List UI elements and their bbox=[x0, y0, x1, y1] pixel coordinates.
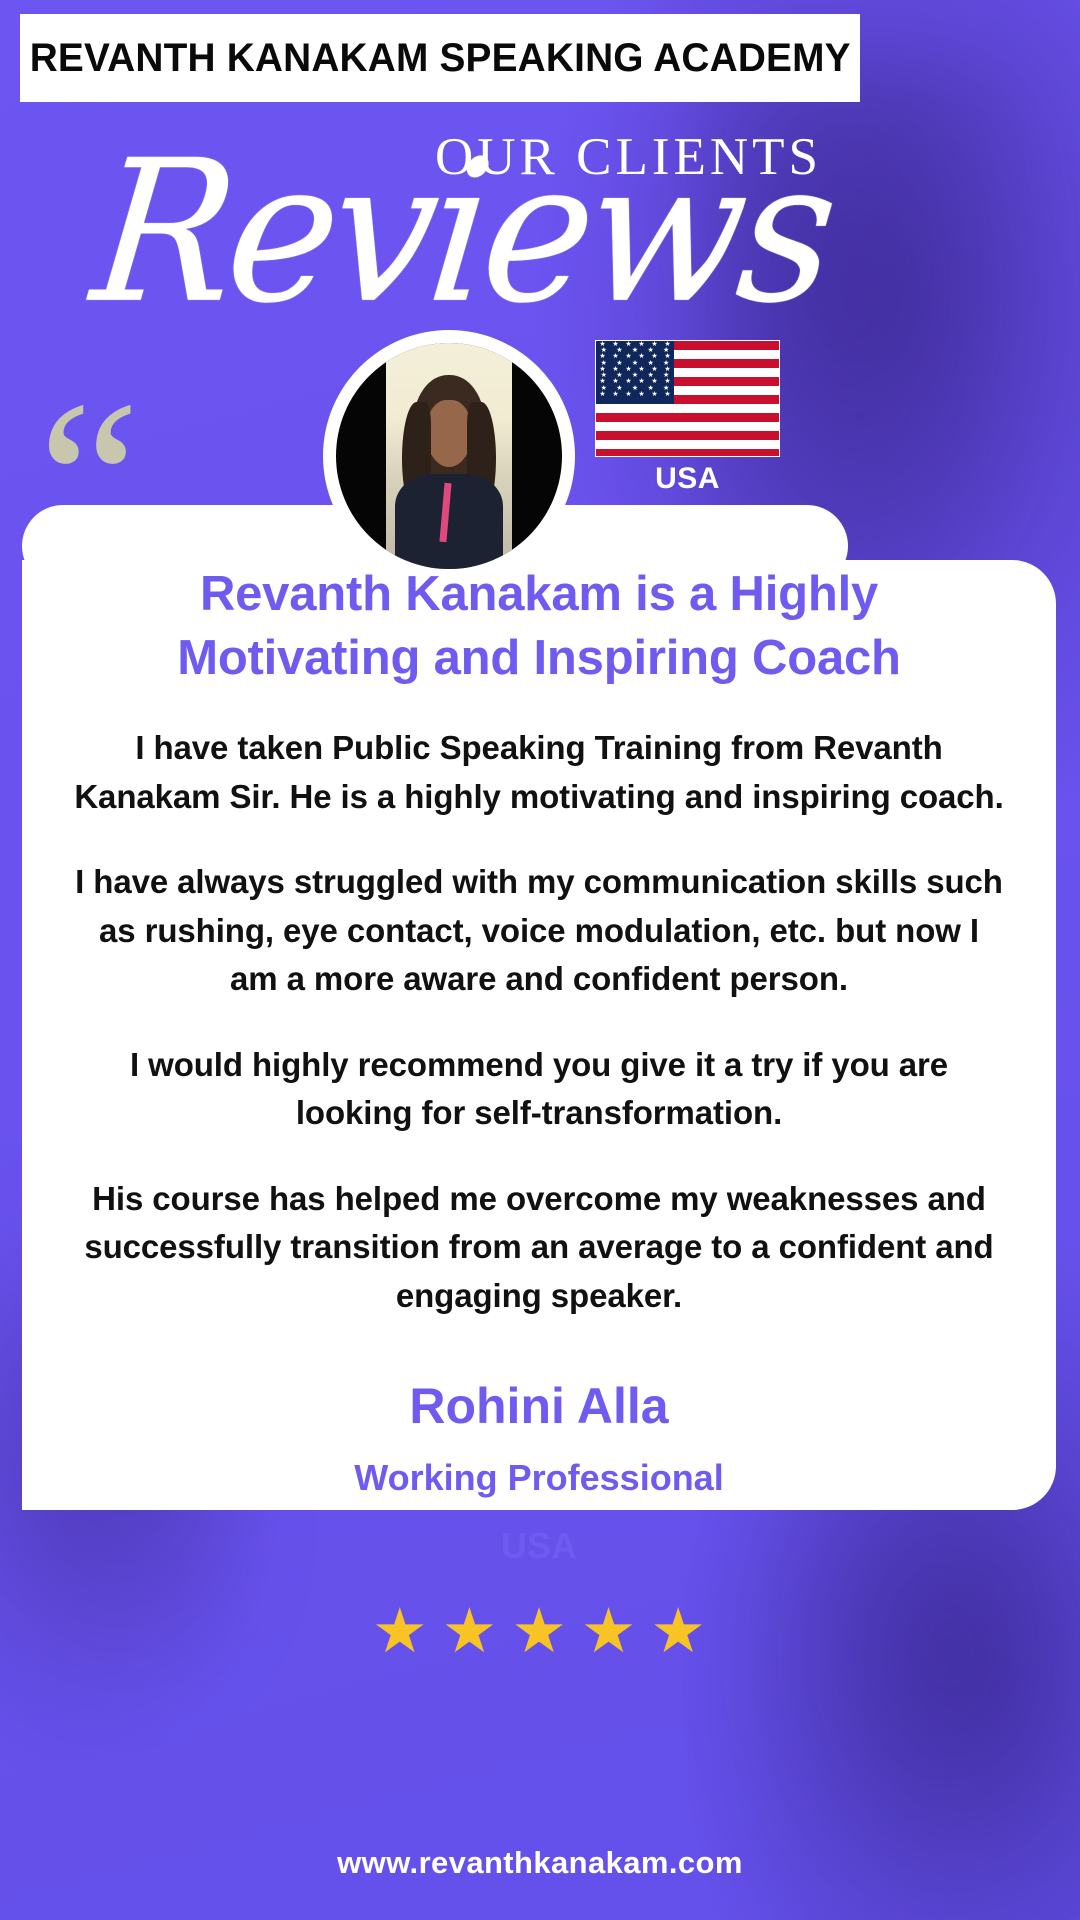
flag-stripe bbox=[596, 422, 779, 431]
flag-star-icon: ★ bbox=[638, 353, 644, 360]
rating-star-icon: ★ bbox=[581, 1601, 637, 1663]
academy-name: REVANTH KANAKAM SPEAKING ACADEMY bbox=[29, 36, 850, 81]
flag-stripe bbox=[596, 431, 779, 440]
quote-open-icon: “ bbox=[38, 398, 140, 564]
rating-stars: ★★★★★ bbox=[22, 1567, 1056, 1673]
flag-star-icon: ★ bbox=[638, 366, 644, 373]
flag-star-icon: ★ bbox=[632, 360, 638, 367]
testimonial-paragraph: I have always struggled with my communic… bbox=[74, 858, 1004, 1004]
flag-star-icon: ★ bbox=[625, 353, 631, 360]
flag-stripe bbox=[596, 449, 779, 457]
flag-star-icon: ★ bbox=[612, 391, 618, 398]
client-signature: Rohini Alla Working Professional USA bbox=[22, 1320, 1056, 1566]
testimonial-heading: Revanth Kanakam is a Highly Motivating a… bbox=[22, 505, 1056, 690]
avatar-face bbox=[426, 400, 471, 468]
flag-star-icon: ★ bbox=[651, 391, 657, 398]
testimonial-paragraph: His course has helped me overcome my wea… bbox=[74, 1175, 1004, 1321]
rating-star-icon: ★ bbox=[372, 1601, 428, 1663]
flag-star-icon: ★ bbox=[625, 378, 631, 385]
flag-star-icon: ★ bbox=[632, 347, 638, 354]
header-bar: REVANTH KANAKAM SPEAKING ACADEMY bbox=[20, 14, 860, 102]
flag-canton: ★★★★★★★★★★★★★★★★★★★★★★★★★★★★★★★★★★★★★★★★… bbox=[596, 341, 674, 404]
flag-star-icon: ★ bbox=[632, 372, 638, 379]
flag-star-icon: ★ bbox=[638, 391, 644, 398]
testimonial-paragraph: I would highly recommend you give it a t… bbox=[74, 1041, 1004, 1138]
rating-star-icon: ★ bbox=[511, 1601, 567, 1663]
flag-star-icon: ★ bbox=[632, 385, 638, 392]
flag-star-icon: ★ bbox=[638, 378, 644, 385]
usa-flag-icon: ★★★★★★★★★★★★★★★★★★★★★★★★★★★★★★★★★★★★★★★★… bbox=[595, 340, 780, 457]
flag-country-label: USA bbox=[595, 462, 780, 496]
client-role: Working Professional bbox=[22, 1436, 1056, 1499]
testimonial-body: I have taken Public Speaking Training fr… bbox=[22, 690, 1056, 1320]
flag-star-icon: ★ bbox=[625, 391, 631, 398]
testimonial-paragraph: I have taken Public Speaking Training fr… bbox=[74, 724, 1004, 821]
client-name: Rohini Alla bbox=[22, 1376, 1056, 1436]
testimonial-content: Revanth Kanakam is a Highly Motivating a… bbox=[22, 505, 1056, 1673]
flag-stripe bbox=[596, 404, 779, 413]
flag-star-icon: ★ bbox=[625, 341, 631, 348]
flag-star-row: ★★★★★★ bbox=[596, 391, 674, 397]
flag-star-icon: ★ bbox=[625, 366, 631, 373]
reviews-script-title: Reviews bbox=[86, 134, 767, 330]
website-url[interactable]: www.revanthkanakam.com bbox=[0, 1845, 1080, 1881]
rating-star-icon: ★ bbox=[442, 1601, 498, 1663]
client-country: USA bbox=[22, 1500, 1056, 1567]
flag-stripe bbox=[596, 413, 779, 422]
rating-star-icon: ★ bbox=[650, 1601, 706, 1663]
flag-star-icon: ★ bbox=[599, 391, 605, 398]
flag-star-icon: ★ bbox=[638, 341, 644, 348]
flag-star-icon: ★ bbox=[664, 391, 670, 398]
flag-stripe bbox=[596, 440, 779, 449]
